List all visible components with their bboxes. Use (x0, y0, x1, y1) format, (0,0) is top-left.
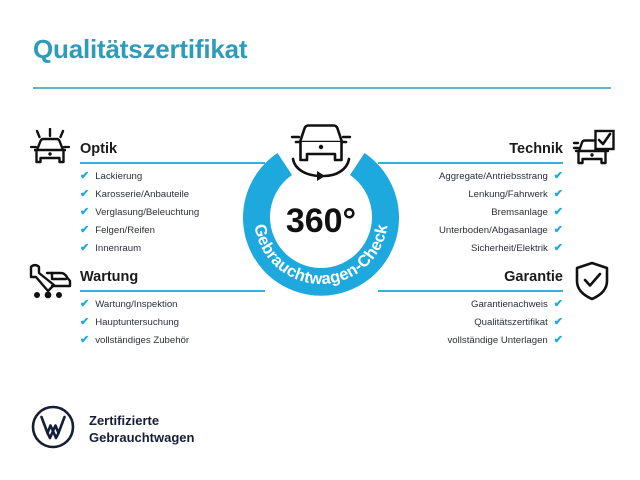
list-item: ✔ vollständiges Zubehör (80, 335, 265, 346)
list-item-label: Qualitätszertifikat (474, 318, 548, 328)
check-icon: ✔ (554, 317, 563, 328)
list-item-label: Hauptuntersuchung (95, 318, 179, 328)
section-title: Optik (80, 141, 117, 157)
list-item: vollständige Unterlagen ✔ (378, 335, 563, 346)
list-item-label: vollständige Unterlagen (448, 336, 548, 346)
quality-certificate-page: Qualitätszertifikat Optik (0, 0, 640, 480)
check-icon: ✔ (554, 299, 563, 310)
check-icon: ✔ (80, 207, 89, 218)
list-item-label: Innenraum (95, 244, 141, 254)
check-icon: ✔ (554, 171, 563, 182)
page-title: Qualitätszertifikat (33, 34, 247, 65)
checklist-garantie: Garantienachweis ✔ Qualitätszertifikat ✔… (378, 299, 563, 346)
list-item-label: Lackierung (95, 172, 142, 182)
section-title: Wartung (80, 269, 138, 285)
list-item-label: Sicherheit/Elektrik (471, 244, 548, 254)
list-item-label: Unterboden/Abgasanlage (439, 226, 548, 236)
footer-branding: Zertifizierte Gebrauchtwagen (31, 405, 194, 454)
list-item-label: Garantienachweis (471, 300, 548, 310)
check-icon: ✔ (80, 317, 89, 328)
list-item-label: Felgen/Reifen (95, 226, 155, 236)
section-title: Technik (509, 141, 563, 157)
check-icon: ✔ (80, 243, 89, 254)
check-icon: ✔ (554, 243, 563, 254)
list-item: Qualitätszertifikat ✔ (378, 317, 563, 328)
gebrauchtwagen-check-badge: Gebrauchtwagen-Check 360° (232, 128, 410, 306)
list-item-label: Verglasung/Beleuchtung (95, 208, 199, 218)
list-item-label: Lenkung/Fahrwerk (468, 190, 547, 200)
wrench-car-icon (27, 262, 73, 307)
check-icon: ✔ (80, 335, 89, 346)
list-item-label: Karosserie/Anbauteile (95, 190, 189, 200)
check-icon: ✔ (554, 335, 563, 346)
list-item: ✔ Hauptuntersuchung (80, 317, 265, 328)
check-icon: ✔ (80, 225, 89, 236)
check-icon: ✔ (80, 299, 89, 310)
list-item-label: Wartung/Inspektion (95, 300, 177, 310)
shield-check-icon (572, 260, 612, 307)
car-rotate-icon (279, 114, 363, 184)
checklist-wartung: ✔ Wartung/Inspektion ✔ Hauptuntersuchung… (80, 299, 265, 346)
check-icon: ✔ (554, 207, 563, 218)
title-divider (33, 87, 611, 89)
car-shine-icon (27, 128, 73, 175)
car-checkbox-icon (568, 128, 616, 175)
check-icon: ✔ (554, 225, 563, 236)
check-icon: ✔ (80, 171, 89, 182)
section-title: Garantie (504, 269, 563, 285)
check-icon: ✔ (80, 189, 89, 200)
footer-label: Zertifizierte Gebrauchtwagen (89, 413, 194, 446)
list-item-label: Aggregate/Antriebsstrang (439, 172, 548, 182)
check-icon: ✔ (554, 189, 563, 200)
list-item-label: Bremsanlage (491, 208, 548, 218)
vw-logo (31, 405, 75, 454)
list-item-label: vollständiges Zubehör (95, 336, 189, 346)
